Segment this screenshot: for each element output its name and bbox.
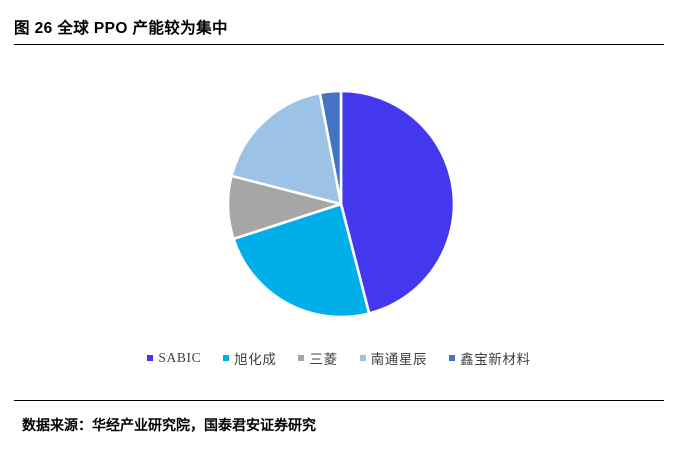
legend-swatch-icon	[147, 355, 153, 361]
footer-divider	[14, 400, 664, 401]
source-note: 数据来源：华经产业研究院，国泰君安证券研究	[22, 415, 316, 435]
legend-swatch-icon	[223, 355, 229, 361]
pie-chart	[227, 90, 455, 318]
legend-item-label: 鑫宝新材料	[460, 348, 531, 368]
page-title: 图 26 全球 PPO 产能较为集中	[14, 16, 228, 38]
legend-swatch-icon	[449, 355, 455, 361]
figure-card: 图 26 全球 PPO 产能较为集中 SABIC旭化成三菱南通星辰鑫宝新材料 数…	[0, 0, 678, 454]
legend-item[interactable]: 南通星辰	[360, 348, 427, 368]
legend-item[interactable]: 鑫宝新材料	[449, 348, 531, 368]
legend-item[interactable]: SABIC	[147, 350, 201, 366]
legend-item-label: 旭化成	[234, 348, 276, 368]
chart-legend: SABIC旭化成三菱南通星辰鑫宝新材料	[0, 346, 678, 370]
figure-title-row: 图 26 全球 PPO 产能较为集中	[14, 14, 664, 40]
pie-chart-svg	[227, 90, 455, 318]
source-row: 数据来源：华经产业研究院，国泰君安证券研究	[22, 412, 664, 438]
chart-plot-area	[14, 52, 664, 332]
legend-item[interactable]: 三菱	[298, 348, 337, 368]
legend-item-label: 南通星辰	[371, 348, 427, 368]
title-divider	[14, 44, 664, 45]
legend-swatch-icon	[298, 355, 304, 361]
pie-slice-group	[228, 91, 454, 317]
legend-item[interactable]: 旭化成	[223, 348, 276, 368]
legend-item-label: 三菱	[309, 348, 337, 368]
legend-item-label: SABIC	[158, 350, 201, 366]
legend-swatch-icon	[360, 355, 366, 361]
